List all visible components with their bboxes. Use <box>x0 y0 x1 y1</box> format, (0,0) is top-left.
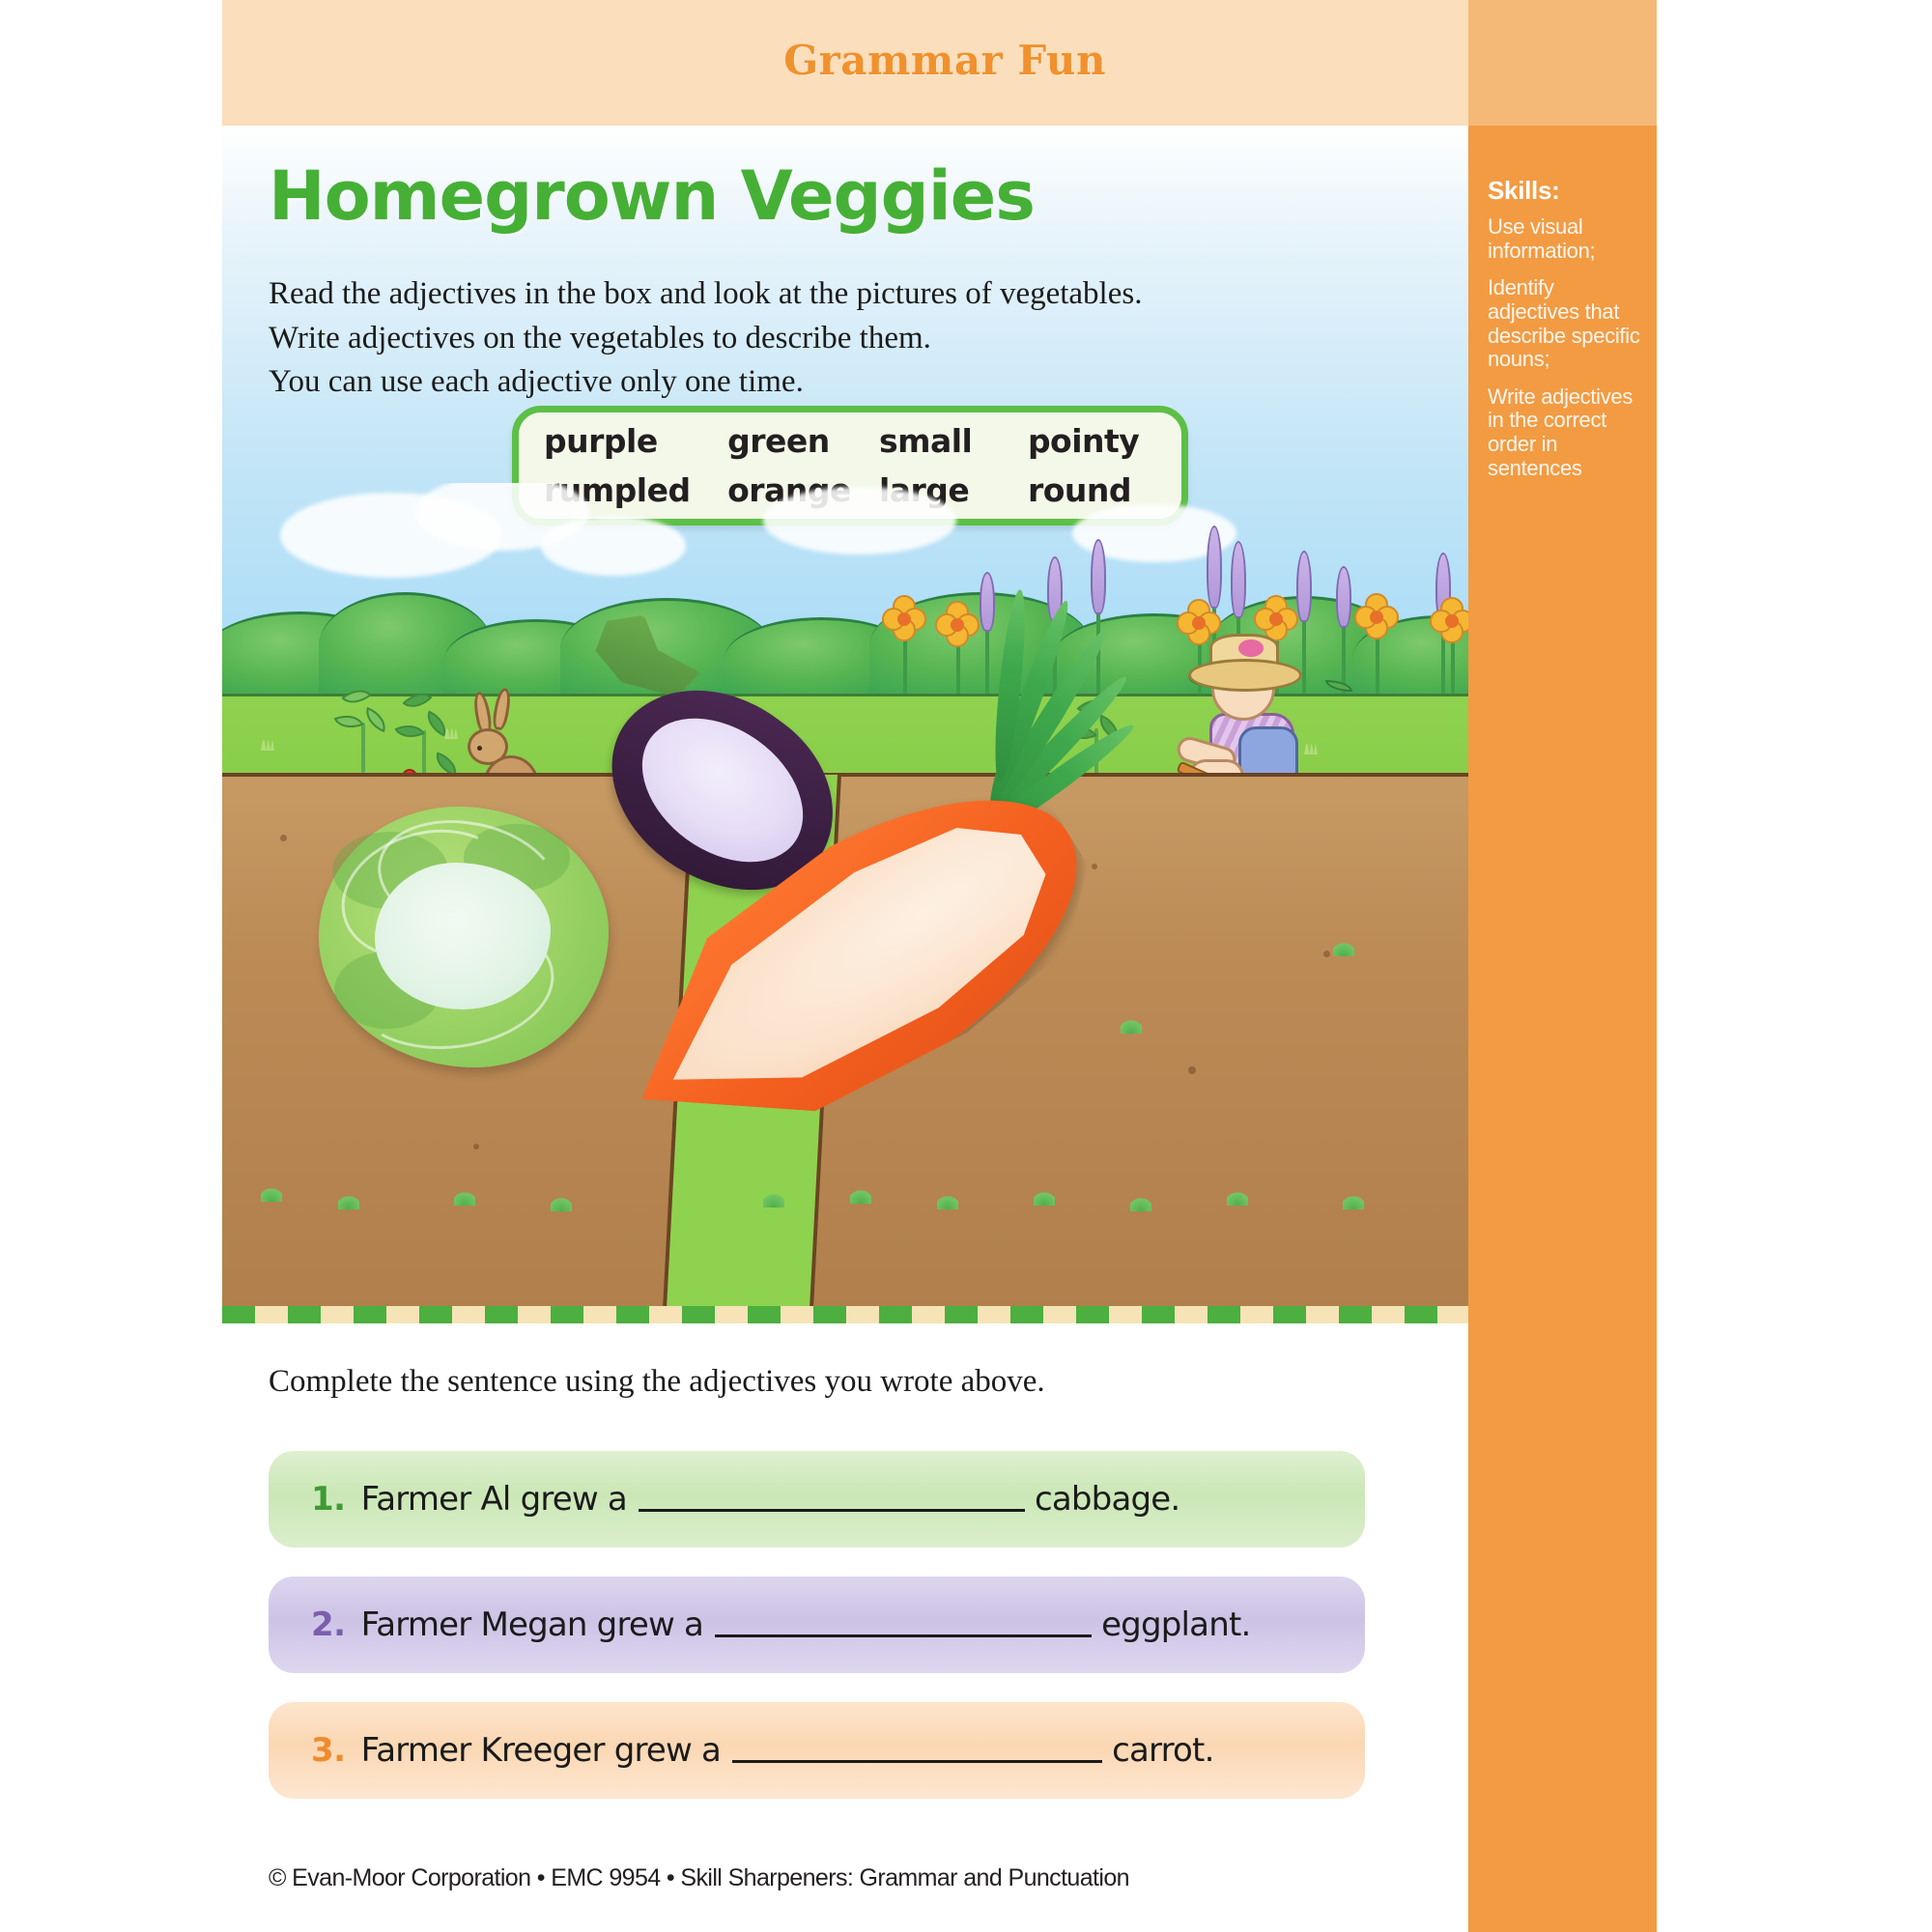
sprout-icon <box>1130 1196 1151 1211</box>
dirt-speck <box>473 1144 479 1150</box>
sprout-icon <box>1343 1194 1364 1209</box>
lupine-flower-icon <box>1296 551 1312 622</box>
skill-item: Identify adjectives that describe specif… <box>1488 276 1642 372</box>
skills-heading: Skills: <box>1488 176 1642 206</box>
answer-blank-3[interactable] <box>732 1738 1102 1763</box>
sprout-icon <box>1121 1018 1142 1034</box>
page-right-margin <box>1657 0 1932 1932</box>
flower-stem <box>1302 618 1306 694</box>
answer-row-text-after: eggplant. <box>1101 1605 1250 1644</box>
page-left-margin <box>0 0 222 1932</box>
straw-hat-icon <box>1188 659 1302 692</box>
worksheet-main: Homegrown Veggies Read the adjectives in… <box>222 126 1468 1932</box>
illustration-panel: Homegrown Veggies Read the adjectives in… <box>222 126 1468 1323</box>
flower-stem <box>1376 636 1379 694</box>
dirt-speck <box>280 835 287 841</box>
sprout-icon <box>763 1192 784 1207</box>
sprout-icon <box>551 1196 572 1211</box>
sprout-icon <box>1227 1190 1248 1206</box>
cloud-icon <box>763 487 956 554</box>
answer-row-number: 3. <box>311 1731 346 1770</box>
answer-row-1[interactable]: 1. Farmer Al grew a cabbage. <box>269 1451 1365 1548</box>
flower-stem <box>1451 639 1455 694</box>
garden-illustration <box>222 483 1468 1323</box>
footer-copyright: © Evan-Moor Corporation • EMC 9954 • Ski… <box>269 1864 1129 1892</box>
header-title: Grammar Fun <box>783 37 1106 84</box>
instruction-line-3: You can use each adjective only one time… <box>269 360 1235 405</box>
decorative-checker-border <box>222 1306 1468 1323</box>
answer-row-text-after: cabbage. <box>1035 1480 1179 1519</box>
sidebar-top-tint <box>1468 0 1657 126</box>
sprout-icon <box>338 1194 359 1209</box>
answer-row-2[interactable]: 2. Farmer Megan grew a eggplant. <box>269 1577 1365 1673</box>
sidebar: Skills: Use visual information; Identify… <box>1468 0 1657 1932</box>
sprout-icon <box>1333 941 1354 956</box>
worksheet-page: Grammar Fun Homegrown Veggies Read the a… <box>0 0 1932 1932</box>
lupine-flower-icon <box>1207 526 1222 609</box>
sprout-icon <box>261 1186 282 1202</box>
yellow-flower-icon <box>935 603 980 647</box>
skill-item: Write adjectives in the correct order in… <box>1488 385 1642 481</box>
hat-flower-icon <box>1238 639 1264 657</box>
lupine-flower-icon <box>1231 541 1246 618</box>
page-title: Homegrown Veggies <box>269 156 1035 236</box>
answer-section: Complete the sentence using the adjectiv… <box>222 1323 1468 1932</box>
instruction-line-1: Read the adjectives in the box and look … <box>269 272 1235 317</box>
dirt-speck <box>1188 1066 1196 1074</box>
instruction-line-2: Write adjectives on the vegetables to de… <box>269 317 1235 361</box>
word-bank-word[interactable]: small <box>879 422 1028 460</box>
answer-row-number: 1. <box>311 1480 346 1519</box>
answer-row-number: 2. <box>311 1605 346 1644</box>
yellow-flower-icon <box>882 597 926 641</box>
answer-row-text-before: Farmer Megan grew a <box>361 1605 703 1644</box>
skills-block: Skills: Use visual information; Identify… <box>1488 176 1642 494</box>
flower-stem <box>903 638 907 694</box>
dirt-speck <box>1092 864 1097 869</box>
plant-stem <box>361 723 365 773</box>
cloud-icon <box>541 516 686 576</box>
sprout-icon <box>454 1190 475 1206</box>
word-bank-word[interactable]: pointy <box>1028 422 1156 460</box>
sprout-icon <box>1034 1190 1055 1206</box>
answer-blank-1[interactable] <box>639 1487 1025 1512</box>
word-bank-word[interactable]: purple <box>544 422 727 460</box>
instructions: Read the adjectives in the box and look … <box>269 272 1235 405</box>
yellow-flower-icon <box>1430 599 1468 643</box>
page-header-band: Grammar Fun <box>222 0 1657 126</box>
answer-row-text-before: Farmer Al grew a <box>361 1480 627 1519</box>
answer-row-text-before: Farmer Kreeger grew a <box>361 1731 722 1770</box>
yellow-flower-icon <box>1354 595 1399 639</box>
grass-tuft <box>261 735 274 751</box>
lupine-flower-icon <box>980 572 995 632</box>
answer-row-3[interactable]: 3. Farmer Kreeger grew a carrot. <box>269 1702 1365 1799</box>
skill-item: Use visual information; <box>1488 215 1642 263</box>
answer-row-text-after: carrot. <box>1112 1731 1213 1770</box>
lower-prompt: Complete the sentence using the adjectiv… <box>269 1364 1045 1400</box>
sprout-icon <box>937 1194 958 1209</box>
bunny-eye-icon <box>477 746 482 751</box>
lupine-flower-icon <box>1336 566 1351 628</box>
grass-tuft <box>444 724 458 739</box>
word-bank-word[interactable]: green <box>727 422 879 460</box>
sprout-icon <box>850 1188 871 1204</box>
grass-tuft <box>1304 739 1318 754</box>
dirt-speck <box>1323 951 1330 957</box>
word-bank-row: purple green small pointy <box>544 422 1156 460</box>
answer-blank-2[interactable] <box>715 1612 1092 1637</box>
